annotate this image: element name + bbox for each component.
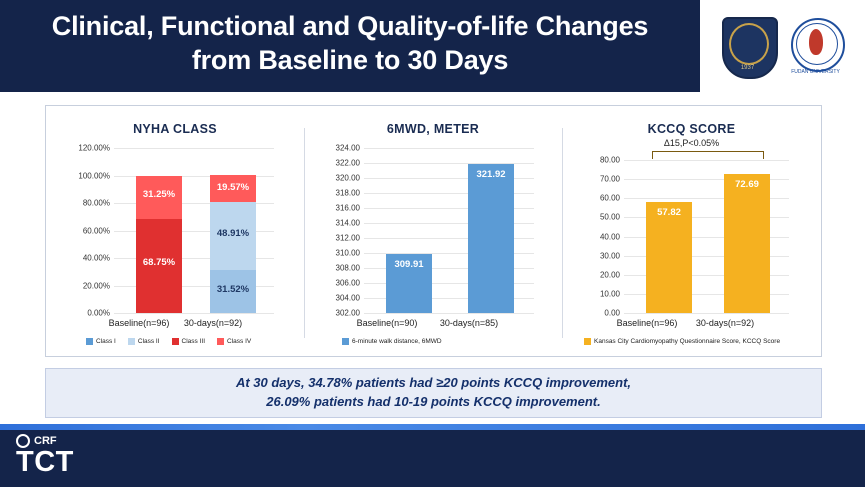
bar-label-nyha-baseline-class4: 31.25% <box>136 189 182 200</box>
bar-6mwd-baseline: 309.91 <box>386 254 432 313</box>
title-line-1: Clinical, Functional and Quality-of-life… <box>0 10 700 44</box>
bar-label-kccq-baseline: 57.82 <box>646 207 692 218</box>
ytick-6mwd-11: 324.00 <box>336 144 360 153</box>
legend-6mwd: 6-minute walk distance, 6MWD <box>342 338 450 345</box>
ytick-6mwd-0: 302.00 <box>336 309 360 318</box>
legend-item-kccq: Kansas City Cardiomyopathy Questionnaire… <box>584 338 780 345</box>
ytick-6mwd-4: 310.00 <box>336 249 360 258</box>
kccq-significance-bracket <box>652 151 764 159</box>
footer-bar <box>0 430 865 487</box>
ytick-nyha-1: 20.00% <box>83 281 110 290</box>
bar-label-kccq-30days: 72.69 <box>724 179 770 190</box>
ytick-kccq-0: 0.00 <box>604 309 620 318</box>
bar-label-nyha-30d-class1: 31.52% <box>210 284 256 295</box>
title-line-2: from Baseline to 30 Days <box>0 44 700 78</box>
bar-nyha-baseline-class3: 68.75% <box>136 219 182 314</box>
ytick-kccq-1: 10.00 <box>600 289 620 298</box>
legend-swatch-class2 <box>128 338 135 345</box>
ytick-kccq-4: 40.00 <box>600 232 620 241</box>
legend-swatch-class1 <box>86 338 93 345</box>
ytick-6mwd-10: 322.00 <box>336 159 360 168</box>
xtick-kccq-baseline: Baseline(n=96) <box>612 318 682 328</box>
ytick-kccq-5: 50.00 <box>600 213 620 222</box>
charts-panel: NYHA CLASS 0.00% 20.00% 40.00% 60.00% 80… <box>45 105 822 357</box>
plot-area-6mwd: 302.00 304.00 306.00 308.00 310.00 312.0… <box>364 148 534 313</box>
summary-note-line-1: At 30 days, 34.78% patients had ≥20 poin… <box>236 374 631 393</box>
ytick-6mwd-5: 312.00 <box>336 234 360 243</box>
ytick-nyha-0: 0.00% <box>87 309 110 318</box>
legend-item-class3: Class III <box>172 338 205 345</box>
bar-label-nyha-baseline-class3: 68.75% <box>136 257 182 268</box>
plot-area-nyha: 0.00% 20.00% 40.00% 60.00% 80.00% 100.00… <box>114 148 274 313</box>
legend-item-6mwd: 6-minute walk distance, 6MWD <box>342 338 442 345</box>
chart-6mwd: 6MWD, METER 302.00 304.00 306.00 308.00 … <box>304 106 562 356</box>
ytick-6mwd-1: 304.00 <box>336 294 360 303</box>
chart-title-6mwd: 6MWD, METER <box>304 122 562 136</box>
legend-label-kccq: Kansas City Cardiomyopathy Questionnaire… <box>594 338 780 345</box>
chart-nyha-class: NYHA CLASS 0.00% 20.00% 40.00% 60.00% 80… <box>46 106 304 356</box>
ytick-nyha-4: 80.00% <box>83 199 110 208</box>
chart-title-nyha: NYHA CLASS <box>46 122 304 136</box>
bar-label-nyha-30d-class2: 48.91% <box>210 228 256 239</box>
university-name-label: FUDAN UNIVERSITY <box>788 69 844 75</box>
ytick-6mwd-2: 306.00 <box>336 279 360 288</box>
legend-item-class1: Class I <box>86 338 116 345</box>
hospital-shield-logo-icon: 1937 <box>722 17 774 75</box>
ytick-6mwd-6: 314.00 <box>336 219 360 228</box>
bar-6mwd-30days: 321.92 <box>468 164 514 313</box>
university-logo-icon: FUDAN UNIVERSITY <box>788 17 844 75</box>
bar-label-nyha-30d-class4: 19.57% <box>210 182 256 193</box>
ytick-kccq-7: 70.00 <box>600 175 620 184</box>
bar-nyha-30d-class4: 19.57% <box>210 175 256 202</box>
ytick-nyha-2: 40.00% <box>83 254 110 263</box>
xtick-nyha-baseline: Baseline(n=96) <box>104 318 174 328</box>
legend-swatch-class4 <box>217 338 224 345</box>
ytick-nyha-6: 120.00% <box>78 144 110 153</box>
ytick-nyha-3: 60.00% <box>83 226 110 235</box>
bar-kccq-baseline: 57.82 <box>646 202 692 313</box>
xtick-6mwd-baseline: Baseline(n=90) <box>352 318 422 328</box>
legend-swatch-6mwd <box>342 338 349 345</box>
page-title: Clinical, Functional and Quality-of-life… <box>0 10 700 78</box>
legend-label-class3: Class III <box>182 338 205 345</box>
summary-note-box: At 30 days, 34.78% patients had ≥20 poin… <box>45 368 822 418</box>
legend-item-class2: Class II <box>128 338 160 345</box>
ytick-6mwd-8: 318.00 <box>336 189 360 198</box>
bar-label-6mwd-baseline: 309.91 <box>386 259 432 270</box>
ytick-6mwd-9: 320.00 <box>336 174 360 183</box>
legend-label-class1: Class I <box>96 338 116 345</box>
summary-note-line-2: 26.09% patients had 10-19 points KCCQ im… <box>236 393 631 412</box>
bar-label-6mwd-30days: 321.92 <box>468 169 514 180</box>
xtick-kccq-30days: 30-days(n=92) <box>690 318 760 328</box>
legend-nyha: Class I Class II Class III Class IV <box>86 338 259 345</box>
legend-item-class4: Class IV <box>217 338 251 345</box>
title-bar: Clinical, Functional and Quality-of-life… <box>0 0 810 92</box>
summary-note-text: At 30 days, 34.78% patients had ≥20 poin… <box>236 374 631 412</box>
legend-swatch-kccq <box>584 338 591 345</box>
ytick-6mwd-7: 316.00 <box>336 204 360 213</box>
tct-logo-label: TCT <box>16 446 74 479</box>
legend-label-6mwd: 6-minute walk distance, 6MWD <box>352 338 442 345</box>
legend-swatch-class3 <box>172 338 179 345</box>
legend-label-class2: Class II <box>138 338 160 345</box>
legend-kccq: Kansas City Cardiomyopathy Questionnaire… <box>584 338 788 345</box>
bar-nyha-30d-class1: 31.52% <box>210 270 256 313</box>
chart-title-kccq: KCCQ SCORE <box>562 122 821 136</box>
shield-year-label: 1937 <box>722 65 774 71</box>
logo-group: 1937 FUDAN UNIVERSITY <box>700 0 865 92</box>
bar-nyha-30d-class2: 48.91% <box>210 202 256 269</box>
ytick-kccq-8: 80.00 <box>600 156 620 165</box>
ytick-kccq-6: 60.00 <box>600 194 620 203</box>
chart-kccq: KCCQ SCORE Δ15,P<0.05% 0.00 10.00 20.00 … <box>562 106 821 356</box>
bar-kccq-30days: 72.69 <box>724 174 770 313</box>
bar-nyha-baseline-class4: 31.25% <box>136 176 182 219</box>
xtick-nyha-30days: 30-days(n=92) <box>178 318 248 328</box>
ytick-kccq-2: 20.00 <box>600 270 620 279</box>
plot-area-kccq: 0.00 10.00 20.00 30.00 40.00 50.00 60.00… <box>624 160 789 313</box>
xtick-6mwd-30days: 30-days(n=85) <box>434 318 504 328</box>
legend-label-class4: Class IV <box>227 338 251 345</box>
ytick-6mwd-3: 308.00 <box>336 264 360 273</box>
ytick-nyha-5: 100.00% <box>78 171 110 180</box>
kccq-annotation: Δ15,P<0.05% <box>562 138 821 148</box>
ytick-kccq-3: 30.00 <box>600 251 620 260</box>
